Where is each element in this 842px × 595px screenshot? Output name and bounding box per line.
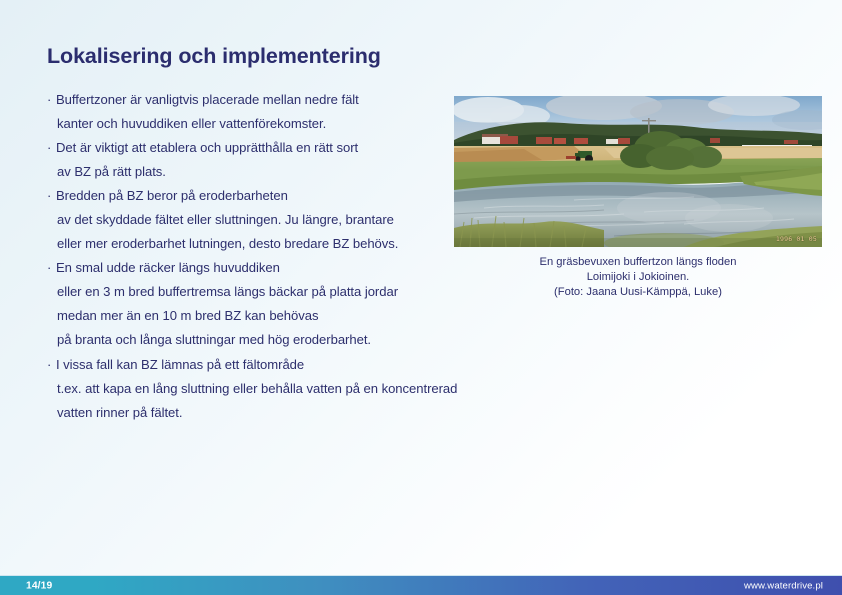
footer-website-link[interactable]: www.waterdrive.pl bbox=[744, 580, 823, 591]
bullet-text: eller en 3 m bred buffertremsa längs bäc… bbox=[57, 284, 398, 299]
bullet-item: ·Buffertzoner är vanligtvis placerade me… bbox=[47, 88, 447, 112]
bullet-continuation-line: på branta och långa sluttningar med hög … bbox=[47, 328, 447, 352]
bullet-text: En smal udde räcker längs huvuddiken bbox=[56, 260, 280, 275]
bullet-text: på branta och långa sluttningar med hög … bbox=[57, 332, 371, 347]
bullet-continuation-line: eller en 3 m bred buffertremsa längs bäc… bbox=[47, 280, 447, 304]
bullet-text: av BZ på rätt plats. bbox=[57, 164, 166, 179]
caption-line: Loimijoki i Jokioinen. bbox=[454, 270, 822, 285]
page-number: 14/19 bbox=[26, 580, 52, 591]
bullet-list: ·Buffertzoner är vanligtvis placerade me… bbox=[47, 88, 447, 425]
photo-figure: 1996 01 05 bbox=[454, 96, 822, 247]
bullet-text: I vissa fall kan BZ lämnas på ett fältom… bbox=[56, 357, 304, 372]
bullet-point-icon: · bbox=[47, 136, 56, 160]
bullet-item: ·Bredden på BZ beror på eroderbarheten bbox=[47, 184, 447, 208]
bullet-item: ·Det är viktigt att etablera och upprätt… bbox=[47, 136, 447, 160]
bullet-continuation-line: medan mer än en 10 m bred BZ kan behövas bbox=[47, 304, 447, 328]
photo-datestamp: 1996 01 05 bbox=[776, 235, 817, 243]
photo-caption: En gräsbevuxen buffertzon längs flodenLo… bbox=[454, 255, 822, 301]
bullet-text: Buffertzoner är vanligtvis placerade mel… bbox=[56, 92, 359, 107]
bullet-point-icon: · bbox=[47, 184, 56, 208]
bullet-continuation-line: eller mer eroderbarhet lutningen, desto … bbox=[47, 232, 447, 256]
page-title: Lokalisering och implementering bbox=[47, 44, 381, 69]
bullet-text: eller mer eroderbarhet lutningen, desto … bbox=[57, 236, 398, 251]
bullet-point-icon: · bbox=[47, 256, 56, 280]
bullet-text: vatten rinner på fältet. bbox=[57, 405, 182, 420]
bullet-text: av det skyddade fältet eller sluttningen… bbox=[57, 212, 394, 227]
bullet-continuation-line: av det skyddade fältet eller sluttningen… bbox=[47, 208, 447, 232]
bullet-text: Bredden på BZ beror på eroderbarheten bbox=[56, 188, 288, 203]
bullet-point-icon: · bbox=[47, 88, 56, 112]
river-buffer-zone-photo bbox=[454, 96, 822, 247]
slide-canvas: Lokalisering och implementering ·Buffert… bbox=[0, 0, 842, 595]
bullet-text: t.ex. att kapa en lång sluttning eller b… bbox=[57, 381, 457, 396]
caption-line: En gräsbevuxen buffertzon längs floden bbox=[454, 255, 822, 270]
bullet-point-icon: · bbox=[47, 353, 56, 377]
bullet-item: ·I vissa fall kan BZ lämnas på ett fälto… bbox=[47, 353, 447, 377]
caption-line: (Foto: Jaana Uusi-Kämppä, Luke) bbox=[454, 285, 822, 300]
bullet-text: kanter och huvuddiken eller vattenföreko… bbox=[57, 116, 326, 131]
bullet-continuation-line: av BZ på rätt plats. bbox=[47, 160, 447, 184]
slide-footer: 14/19 www.waterdrive.pl bbox=[0, 575, 842, 595]
bullet-text: medan mer än en 10 m bred BZ kan behövas bbox=[57, 308, 318, 323]
bullet-item: ·En smal udde räcker längs huvuddiken bbox=[47, 256, 447, 280]
bullet-continuation-line: kanter och huvuddiken eller vattenföreko… bbox=[47, 112, 447, 136]
bullet-continuation-line: vatten rinner på fältet. bbox=[47, 401, 447, 425]
bullet-continuation-line: t.ex. att kapa en lång sluttning eller b… bbox=[47, 377, 447, 401]
bullet-text: Det är viktigt att etablera och upprätth… bbox=[56, 140, 358, 155]
